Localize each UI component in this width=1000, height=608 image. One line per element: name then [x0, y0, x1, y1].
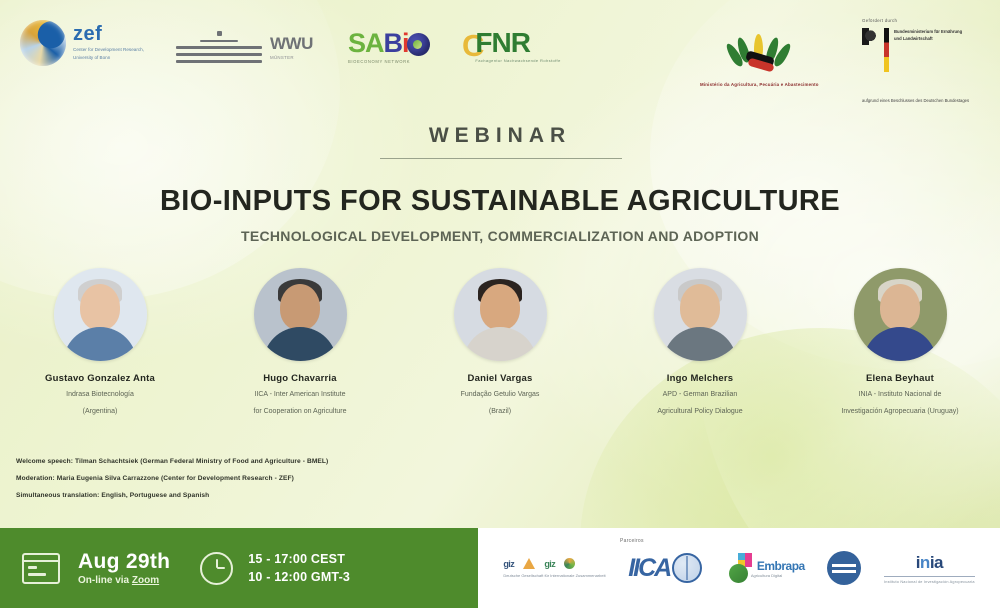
avatar [654, 268, 747, 361]
brazil-ministry-leaf-icon [728, 32, 790, 78]
avatar [54, 268, 147, 361]
event-mode-prefix: On-line via [78, 575, 132, 586]
iica-mark: IICA [628, 554, 670, 583]
circle-partner-logo [827, 551, 861, 585]
wwu-logo: WWU MÜNSTER [176, 27, 313, 67]
german-flag-icon [884, 28, 889, 72]
speaker-org: APD - German Brazilian [600, 389, 800, 401]
wwu-logo-title: WWU [270, 35, 313, 52]
giz-logo: giz giz Deutsche Gesellschaft für Intern… [503, 558, 605, 578]
giz-subtitle: Deutsche Gesellschaft für Internationale… [503, 573, 605, 578]
speaker-country: for Cooperation on Agriculture [200, 406, 400, 418]
brazil-ministry-logo: Ministério da Agricultura, Pecuária e Ab… [700, 32, 819, 89]
avatar [254, 268, 347, 361]
sabio-logo-subtitle: BIOECONOMY NETWORK [348, 59, 430, 64]
speaker-org: IICA - Inter American Institute [200, 389, 400, 401]
inia-logo: inia Instituto Nacional de Investigación… [884, 553, 975, 584]
zef-logo-subtitle: Center for Development Research, Univers… [73, 46, 151, 60]
german-eagle-icon [862, 28, 879, 45]
footer: Aug 29th On-line via Zoom 15 - 17:00 CES… [0, 528, 1000, 608]
embrapa-mark-icon [725, 553, 751, 583]
speaker-country: (Brazil) [400, 406, 600, 418]
bmel-ministry-name: Bundesministerium für Ernährung und Land… [894, 28, 970, 42]
embrapa-wordmark: Embrapa [757, 559, 805, 573]
sabio-logo: SABi BIOECONOMY NETWORK [348, 30, 430, 64]
giz-mark-left: giz [503, 559, 514, 569]
webinar-kicker: WEBINAR [0, 124, 1000, 148]
speaker-name: Elena Beyhaut [800, 373, 1000, 384]
inia-subtitle: Instituto Nacional de Investigación Agro… [884, 580, 975, 584]
note-welcome-speech: Welcome speech: Tilman Schachtsiek (Germ… [16, 457, 616, 467]
wwu-bars-icon [176, 27, 262, 67]
note-moderation: Moderation: Maria Eugenia Silva Carrazzo… [16, 474, 616, 484]
speaker-country: Investigación Agropecuaria (Uruguay) [800, 406, 1000, 418]
bmel-funded-label: Gefördert durch [862, 18, 970, 23]
bmel-footnote: aufgrund eines Beschlusses des Deutschen… [862, 98, 970, 105]
inia-wordmark: inia [884, 553, 975, 573]
webinar-poster: zef Center for Development Research, Uni… [0, 0, 1000, 608]
circle-partner-icon [827, 551, 861, 585]
fnr-logo: C FNR Fachagentur Nachwachsende Rohstoff… [462, 30, 561, 63]
fnr-logo-title: FNR [475, 30, 560, 55]
zef-logo: zef Center for Development Research, Uni… [20, 20, 151, 66]
title-divider [380, 158, 622, 159]
sabio-sphere-icon [407, 33, 430, 56]
wwu-logo-subtitle: MÜNSTER [270, 55, 313, 60]
event-time-primary: 15 - 17:00 CEST [248, 550, 350, 568]
speaker-name: Hugo Chavarria [200, 373, 400, 384]
speaker-name: Daniel Vargas [400, 373, 600, 384]
page-title: BIO-INPUTS FOR SUSTAINABLE AGRICULTURE [0, 185, 1000, 218]
event-date: Aug 29th [78, 551, 170, 572]
inia-divider [884, 576, 975, 577]
avatar [454, 268, 547, 361]
speaker-card: Hugo Chavarria IICA - Inter American Ins… [200, 268, 400, 419]
zef-logo-title: zef [73, 25, 151, 43]
speaker-org: INIA - Instituto Nacional de [800, 389, 1000, 401]
partners-bar: Parceiros giz giz Deutsche Gesellschaft … [478, 528, 1000, 608]
speaker-card: Elena Beyhaut INIA - Instituto Nacional … [800, 268, 1000, 419]
page-subtitle: TECHNOLOGICAL DEVELOPMENT, COMMERCIALIZA… [0, 228, 1000, 244]
iica-globe-icon [672, 553, 702, 583]
speaker-name: Ingo Melchers [600, 373, 800, 384]
header-logo-strip: zef Center for Development Research, Uni… [0, 0, 1000, 118]
speaker-card: Gustavo Gonzalez Anta Indrasa Biotecnolo… [0, 268, 200, 419]
event-time-secondary: 10 - 12:00 GMT-3 [248, 568, 350, 586]
zoom-link[interactable]: Zoom [132, 575, 159, 586]
giz-mark-right: giz [544, 559, 555, 569]
speaker-card: Ingo Melchers APD - German Brazilian Agr… [600, 268, 800, 419]
iica-logo: IICA [628, 553, 702, 583]
speaker-name: Gustavo Gonzalez Anta [0, 373, 200, 384]
avatar [854, 268, 947, 361]
speaker-org: Fundação Getulio Vargas [400, 389, 600, 401]
brazil-ministry-caption: Ministério da Agricultura, Pecuária e Ab… [700, 82, 819, 89]
speaker-card: Daniel Vargas Fundação Getulio Vargas (B… [400, 268, 600, 419]
giz-circle-icon [564, 558, 575, 569]
speakers-row: Gustavo Gonzalez Anta Indrasa Biotecnolo… [0, 268, 1000, 419]
calendar-icon [22, 553, 60, 584]
event-mode: On-line via Zoom [78, 575, 170, 586]
speaker-country: Agricultural Policy Dialogue [600, 406, 800, 418]
embrapa-logo: Embrapa Agricultura Digital [725, 553, 805, 583]
zef-globe-icon [20, 20, 66, 66]
notes-block: Welcome speech: Tilman Schachtsiek (Germ… [16, 457, 616, 509]
partners-label: Parceiros [620, 538, 644, 544]
giz-triangle-icon [523, 558, 535, 569]
note-translation: Simultaneous translation: English, Portu… [16, 491, 616, 501]
fnr-logo-subtitle: Fachagentur Nachwachsende Rohstoffe [475, 58, 560, 63]
embrapa-subtitle: Agricultura Digital [751, 573, 805, 578]
bmel-logo: Gefördert durch Bundesministerium für Er… [862, 18, 970, 105]
clock-icon [200, 552, 233, 585]
speaker-org: Indrasa Biotecnología [0, 389, 200, 401]
event-details-bar: Aug 29th On-line via Zoom 15 - 17:00 CES… [0, 528, 478, 608]
speaker-country: (Argentina) [0, 406, 200, 418]
sabio-logo-title: SABi [348, 30, 430, 57]
